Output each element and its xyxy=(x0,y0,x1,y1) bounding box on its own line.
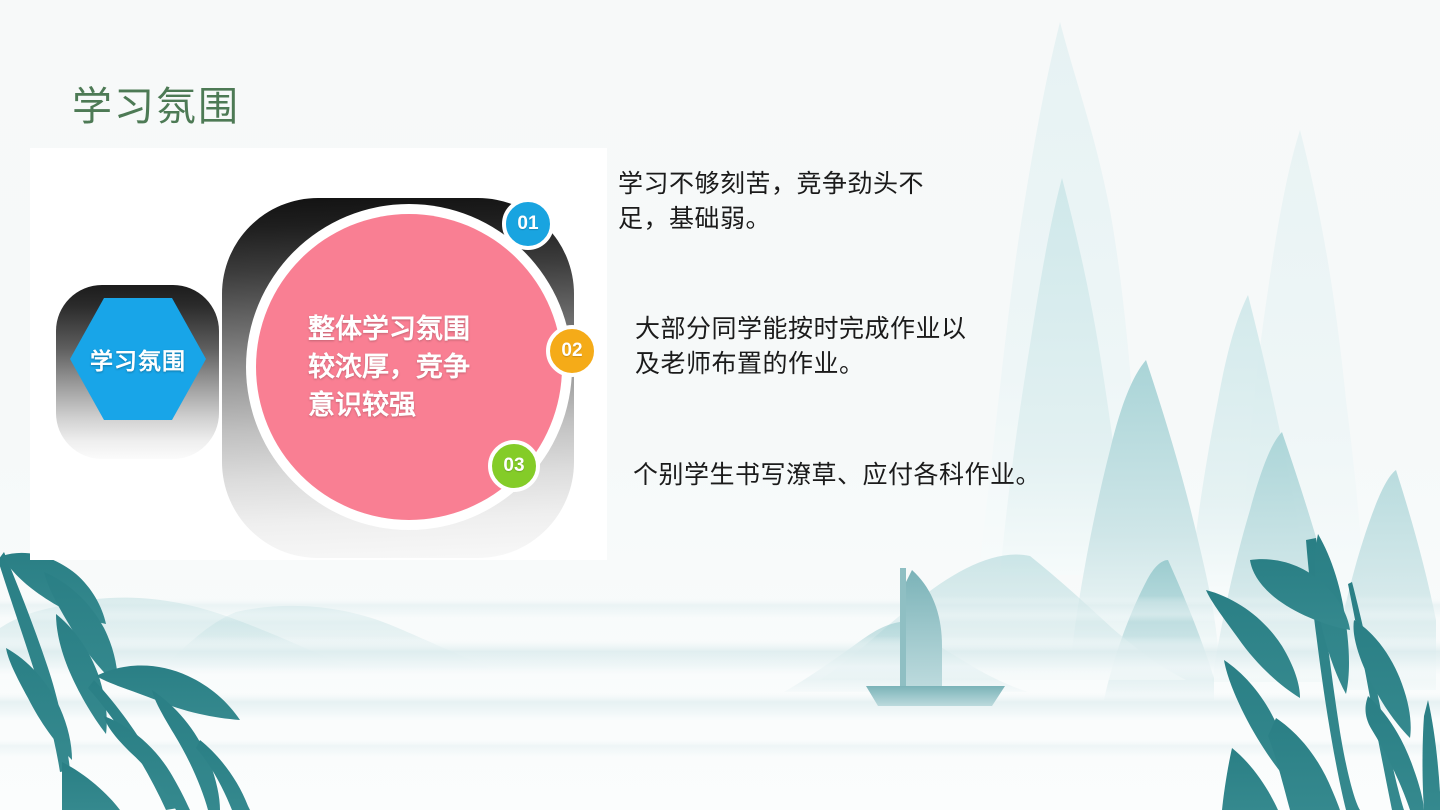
diagram-card: 学习氛围 整体学习氛围 较浓厚，竞争 意识较强 01 02 03 xyxy=(30,148,607,560)
badge-03[interactable]: 03 xyxy=(488,440,540,492)
mountain-mid xyxy=(1000,178,1306,590)
bamboo-left xyxy=(0,552,250,810)
paragraph-2: 大部分同学能按时完成作业以及老师布置的作业。 xyxy=(635,313,975,382)
paragraph-3: 个别学生书写潦草、应付各科作业。 xyxy=(633,459,1093,494)
bamboo-right xyxy=(1206,534,1440,810)
badge-01[interactable]: 01 xyxy=(502,198,554,250)
paragraph-1: 学习不够刻苦，竞争劲头不足，基础弱。 xyxy=(618,168,958,237)
sailboat-icon xyxy=(866,568,1005,706)
page-title: 学习氛围 xyxy=(72,85,240,129)
slide-canvas: 学习氛围 学习氛围 整体学习氛围 较浓厚，竞争 意识较强 01 02 03 xyxy=(0,0,1440,810)
diagram-stage: 学习氛围 整体学习氛围 较浓厚，竞争 意识较强 01 02 03 xyxy=(30,148,607,560)
mountain-near xyxy=(1072,360,1436,700)
mountain-ridge xyxy=(0,554,1186,692)
badge-02[interactable]: 02 xyxy=(546,325,598,377)
center-node-line-3: 意识较强 xyxy=(308,386,520,424)
center-node-text: 整体学习氛围 较浓厚，竞争 意识较强 xyxy=(308,310,520,425)
hexagon-node-label: 学习氛围 xyxy=(90,342,186,376)
center-node-line-2: 较浓厚，竞争 xyxy=(308,348,520,386)
mountain-far xyxy=(980,22,1364,600)
water-mist xyxy=(0,596,1440,760)
center-node-line-1: 整体学习氛围 xyxy=(308,310,520,348)
